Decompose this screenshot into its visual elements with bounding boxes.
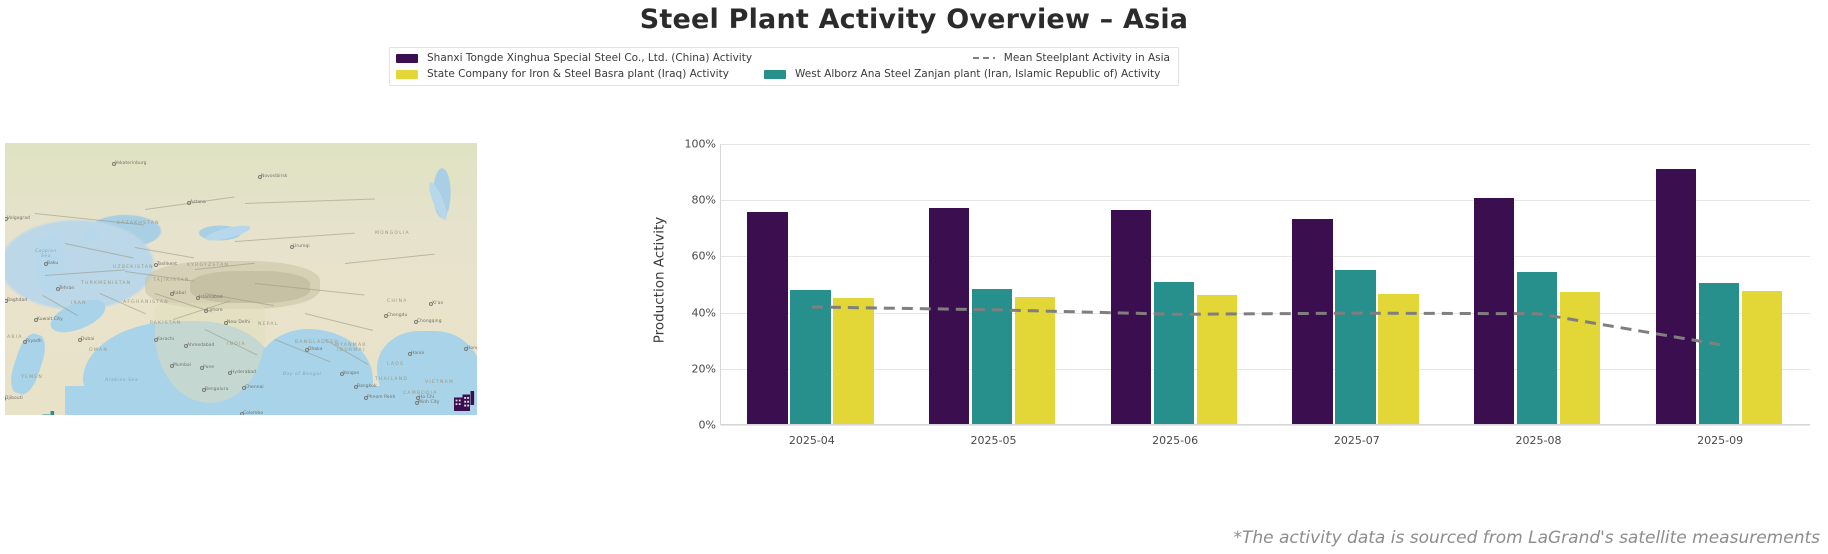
city-dot [258,175,262,179]
map-city-label: Hanoi [411,351,424,356]
bar[interactable] [747,212,787,424]
map-city-label: Volgograd [7,216,30,221]
map-city-label: Kabul [173,291,186,296]
city-dot [464,347,468,351]
factory-marker-shanxi-tongde-xinghua-china[interactable] [453,390,477,414]
city-dot [200,366,204,370]
map-country-label: THAILAND [375,377,408,382]
map-country-label: TURKMENISTAN [81,281,131,286]
city-dot [228,371,232,375]
x-tick-label: 2025-09 [1697,434,1743,447]
city-dot [187,201,191,205]
map-country-label: VIETNAM [425,380,454,385]
bar[interactable] [1111,210,1151,424]
y-tick-label: 40% [616,306,716,319]
map-country-label: LAOS [387,362,404,367]
bar-group [1266,144,1448,424]
bar[interactable] [972,289,1012,424]
city-dot [23,340,27,344]
bar[interactable] [1517,272,1557,424]
legend-label-mean: Mean Steelplant Activity in Asia [1004,52,1170,65]
bar[interactable] [833,298,873,424]
bar-group [1448,144,1630,424]
map-city-label: Yangon [343,371,359,376]
city-dot [202,388,206,392]
dashed-line-icon [973,54,995,63]
legend-swatch-alborz [764,70,786,79]
city-dot [170,364,174,368]
legend-label-basra: State Company for Iron & Steel Basra pla… [427,68,729,81]
map-country-label: OMAN [89,348,108,353]
city-dot [240,412,244,415]
activity-bar-chart: Production Activity 0%20%40%60%80%100% 2… [600,135,1810,425]
city-dot [408,352,412,356]
map-country-label: TAJIKISTAN [153,278,190,283]
bar[interactable] [1292,219,1332,424]
map-country-label: KYRGYZSTAN [187,263,229,268]
city-dot [242,386,246,390]
factory-icon [453,390,477,414]
y-tick-label: 80% [616,194,716,207]
x-tick-label: 2025-07 [1334,434,1380,447]
y-tick-label: 0% [616,419,716,432]
map-country-label: NEPAL [258,322,279,327]
asia-map[interactable]: KAZAKHSTANMONGOLIAUZBEKISTANKYRGYZSTANTU… [5,143,477,415]
x-tick-label: 2025-04 [789,434,835,447]
bar[interactable] [1154,282,1194,424]
city-dot [170,292,174,296]
city-dot [384,314,388,318]
map-country-label: INDIA [227,342,246,347]
map-city-label: Chengdu [387,313,407,318]
map-city-label: Hyderabad [231,370,256,375]
map-city-label: Phnom Penh [367,395,395,400]
bar[interactable] [1560,292,1600,424]
map-country-label: YEMEN [21,375,43,380]
map-city-label: Kuwait City [37,317,63,322]
map-city-label: Chennai [245,385,264,390]
x-tick-label: 2025-08 [1516,434,1562,447]
map-city-label: New Delhi [227,320,250,325]
bar[interactable] [790,290,830,424]
bar-group [903,144,1085,424]
map-city-label: Chongqing [417,319,442,324]
y-tick-label: 20% [616,362,716,375]
city-dot [78,338,82,342]
map-country-label: BANGLADESH [295,340,339,345]
y-axis-title: Production Activity [651,217,667,344]
map-city-label: Islamabad [199,295,223,300]
map-city-label: Astana [190,200,206,205]
legend-item-basra[interactable]: State Company for Iron & Steel Basra pla… [396,67,756,81]
map-city-label: Tehran [59,286,74,291]
factory-icon [33,410,59,415]
city-dot [196,296,200,300]
map-country-label: (BURMA) [337,348,366,353]
legend-item-mean[interactable]: Mean Steelplant Activity in Asia [973,51,1170,65]
map-water-label: Bay of Bengal [283,372,321,377]
bar[interactable] [1474,198,1514,424]
bar-group [1629,144,1811,424]
page-title: Steel Plant Activity Overview – Asia [0,0,1828,37]
map-city-label: Mumbai [173,363,191,368]
bar[interactable] [1378,294,1418,424]
legend-item-shanxi[interactable]: Shanxi Tongde Xinghua Special Steel Co.,… [396,51,756,65]
y-tick-label: 60% [616,250,716,263]
city-dot [112,162,116,166]
map-country-label: UZBEKISTAN [113,265,154,270]
city-dot [415,401,419,405]
map-country-label: CHINA [387,299,408,304]
legend-label-shanxi: Shanxi Tongde Xinghua Special Steel Co.,… [427,52,752,65]
city-dot [154,338,158,342]
map-city-label: Yekaterinburg [115,161,147,166]
map-city-label: Minh City [418,400,439,405]
map-country-label: IRAN [71,301,87,306]
footnote: *The activity data is sourced from LaGra… [1233,528,1820,548]
city-dot [224,321,228,325]
bar-group [1084,144,1266,424]
city-dot [184,344,188,348]
bar[interactable] [1656,169,1696,424]
bar-group [721,144,903,424]
city-dot [44,262,48,266]
city-dot [364,396,368,400]
city-dot [154,263,158,267]
legend-swatch-basra [396,70,418,79]
map-city-label: Xi'an [432,301,443,306]
map-city-label: Baku [47,261,58,266]
bar[interactable] [1699,283,1739,424]
map-city-label: Novosibirsk [261,174,288,179]
city-dot [354,385,358,389]
plot-area: 0%20%40%60%80%100% 2025-042025-052025-06… [720,144,1810,425]
map-city-label: Lahore [207,308,223,313]
map-city-label: Karachi [157,337,174,342]
factory-marker-west-alborz-ana-zanjan-iran[interactable] [33,410,59,415]
legend-swatch-shanxi [396,54,418,63]
chart-legend: Shanxi Tongde Xinghua Special Steel Co.,… [389,47,1179,86]
map-city-label: Urumqi [293,244,310,249]
gridline [721,425,1810,426]
map-country-label: MONGOLIA [375,231,410,236]
city-dot [204,309,208,313]
x-tick-label: 2025-06 [1152,434,1198,447]
map-city-label: Dhaka [308,347,323,352]
map-country-label: ABIA [7,335,23,340]
x-tick-label: 2025-05 [971,434,1017,447]
map-water-label: Sea [41,254,51,259]
map-city-label: Riyadh [26,339,42,344]
bar[interactable] [929,208,969,424]
city-dot [414,320,418,324]
bar[interactable] [1015,297,1055,424]
city-dot [56,287,60,291]
map-city-label: Baghdad [7,298,27,303]
map-city-label: Djibouti [5,396,23,401]
map-water-label: Arabian Sea [105,378,138,383]
map-city-label: Pune [203,365,214,370]
city-dot [429,302,433,306]
sea-aral [83,227,99,243]
map-city-label: Dubai [81,337,94,342]
map-country-label: KAZAKHSTAN [117,221,160,226]
bar[interactable] [1742,291,1782,424]
city-dot [305,348,309,352]
map-city-label: Bangkok [357,384,377,389]
legend-label-alborz: West Alborz Ana Steel Zanjan plant (Iran… [795,68,1160,81]
bar[interactable] [1335,270,1375,424]
city-dot [290,245,294,249]
map-city-label: Colombo [243,411,263,415]
city-dot [34,318,38,322]
map-city-label: Hong [467,346,477,351]
map-country-label: AFGHANISTAN [123,300,169,305]
legend-item-alborz[interactable]: West Alborz Ana Steel Zanjan plant (Iran… [764,67,1172,81]
bar[interactable] [1197,295,1237,424]
city-dot [340,372,344,376]
map-city-label: Bengaluru [205,387,228,392]
y-tick-label: 100% [616,138,716,151]
map-city-label: Ahmedabad [187,343,214,348]
map-city-label: Tashkent [157,262,177,267]
map-country-label: PAKISTAN [150,321,182,326]
